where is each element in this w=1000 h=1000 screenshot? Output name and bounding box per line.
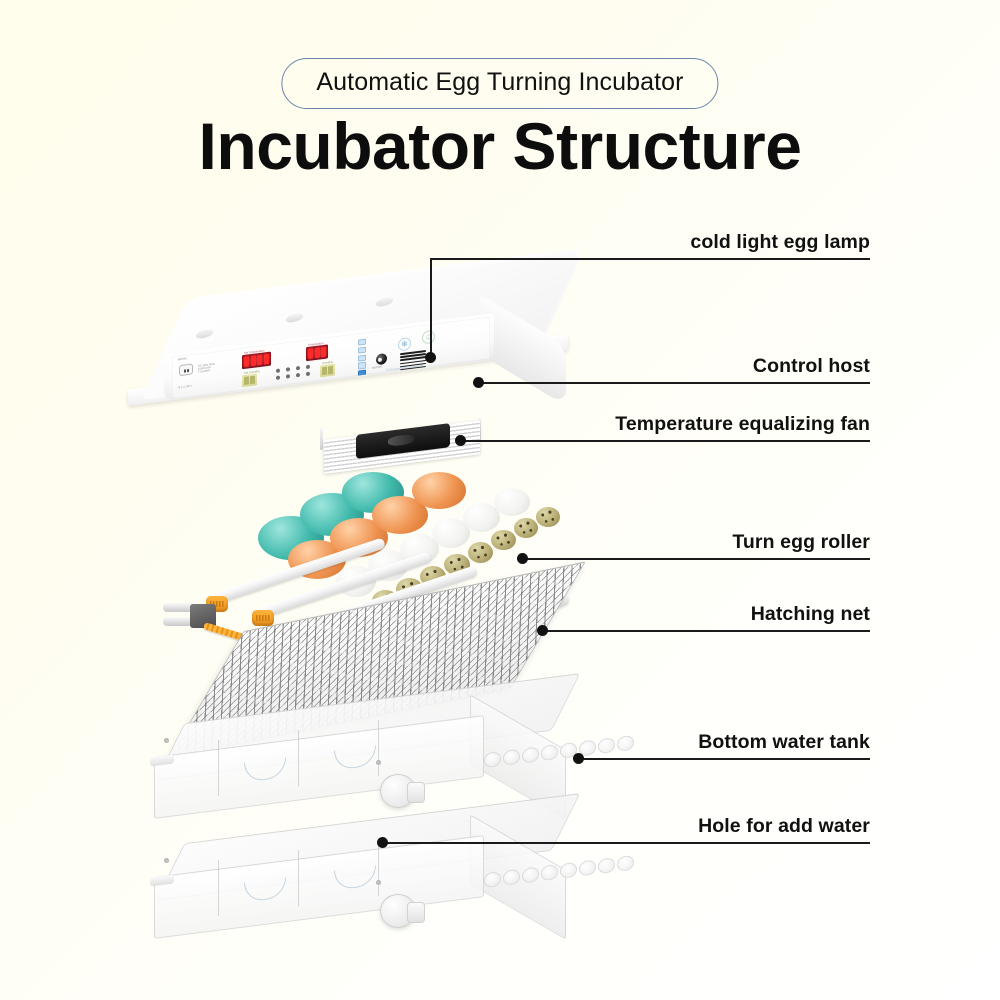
callout-label: Hatching net [751,603,870,626]
snowflake-icon: ❄ [398,337,411,352]
callout-turn-egg-roller: Turn egg roller [522,524,870,560]
egg-orange [412,472,466,509]
callout-label: Hole for add water [698,815,870,838]
egg-white [336,566,376,597]
power-socket-icon [179,363,193,376]
panel-model-text: MODEL [178,357,187,361]
egg-quail [468,542,493,563]
callout-line [430,258,870,260]
egg-white [494,488,530,516]
callout-line [578,758,870,760]
callout-bottom-water-tank: Bottom water tank [578,724,870,760]
panel-spec-text: AC 220V 50Hz110W 0.5AT 2A 250V [198,361,232,375]
mode-button-column[interactable] [358,339,366,377]
callout-line [460,440,870,442]
set-temperature-display [242,352,271,370]
humidity-display [320,363,335,377]
callout-dot-cold-light-egg-lamp [425,352,436,363]
egg-white [463,503,500,532]
callout-stub-cold-light-egg-lamp [430,260,432,358]
egg-white [368,550,408,581]
egg-teal [300,493,364,536]
motor-tube [163,603,197,612]
page-title: Incubator Structure [199,108,802,184]
egg-teal [342,472,404,513]
tank-screw [376,880,381,885]
tank-rib [218,740,219,796]
egg-quail [444,554,470,575]
callout-label: Bottom water tank [698,731,870,754]
callout-line [478,382,870,384]
tank-rib [378,720,379,776]
tank-rib [298,850,299,906]
callout-dot [517,553,528,564]
egg-quail [420,566,446,587]
callout-control-host: Control host [478,348,870,384]
callout-label: Temperature equalizing fan [615,413,870,436]
egg-orange [288,540,346,579]
turn-egg-roller [206,537,386,606]
tank-rib [218,860,219,916]
infographic-canvas: Automatic Egg Turning Incubator Incubato… [0,0,1000,1000]
callout-line [522,558,870,560]
hole-for-add-water-port[interactable] [380,774,416,808]
tank-rib [298,730,299,786]
callout-hatching-net: Hatching net [542,596,870,632]
callout-temperature-equalizing-fan: Temperature equalizing fan [460,406,870,442]
temperature-display [306,344,328,361]
callout-dot [573,753,584,764]
callout-cold-light-egg-lamp: cold light egg lamp [430,224,870,260]
tank-screw [164,858,169,863]
fan-leg [320,428,323,450]
egg-orange [330,518,388,557]
tank-screw [376,760,381,765]
callout-label: Control host [753,355,870,378]
egg-white [432,518,470,548]
set-humidity-display [242,373,257,387]
egg-teal [258,516,324,560]
subtitle-pill: Automatic Egg Turning Incubator [281,58,718,109]
callout-label: cold light egg lamp [690,231,870,254]
rotate-knob-label: ROTATE [372,366,382,371]
panel-certification-icons: ⊕ ▯ ⚠ CE ⌾ [178,381,224,390]
callout-line [542,630,870,632]
tank-screw [164,738,169,743]
callout-hole-for-add-water: Hole for add water [382,808,870,844]
leaf-icon: ♤ [422,330,435,345]
motor-tube [163,617,197,626]
egg-quail [491,530,516,550]
tank-rib [378,840,379,896]
egg-white [400,534,439,564]
callout-line [382,842,870,844]
egg-orange [372,496,428,534]
callout-label: Turn egg roller [732,531,870,554]
hole-for-add-water-port[interactable] [380,894,416,928]
rotate-knob[interactable] [376,353,387,365]
control-keypad[interactable] [276,364,312,380]
